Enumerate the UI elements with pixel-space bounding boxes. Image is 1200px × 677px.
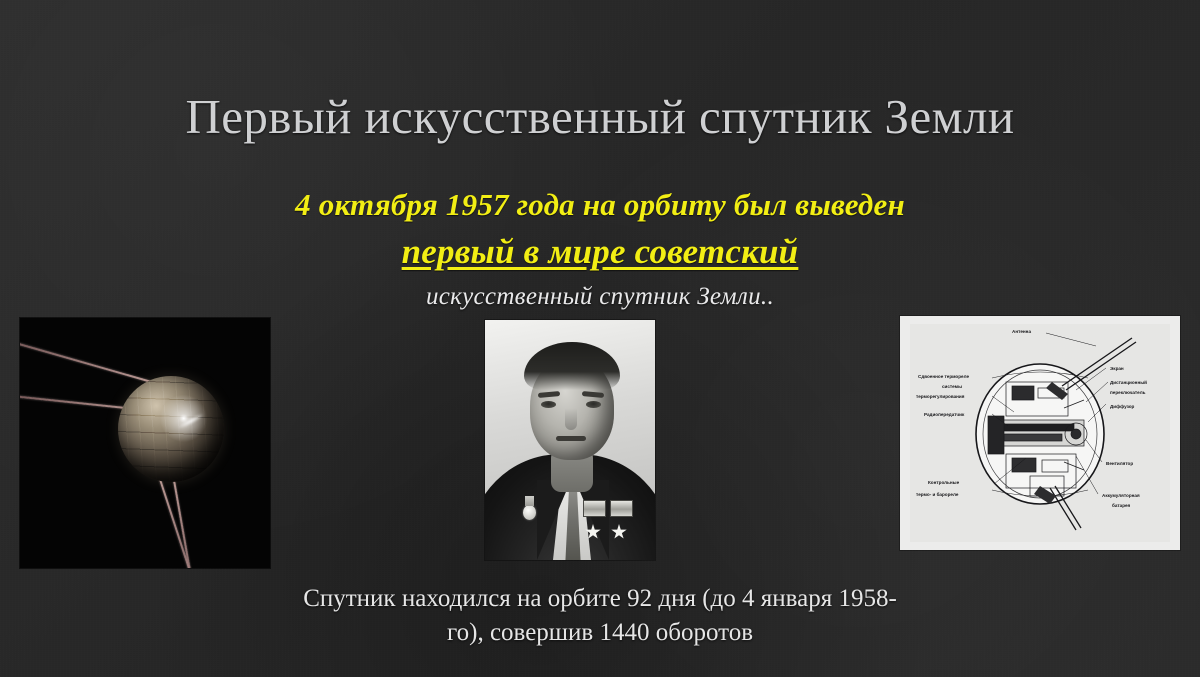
slide-caption: Спутник находился на орбите 92 дня (до 4…	[285, 582, 915, 649]
diagram-svg: Антенна Экран Дистанционный переключател…	[900, 316, 1180, 550]
sputnik-photo	[20, 318, 270, 568]
portrait-medal-icon	[523, 505, 536, 520]
diagram-label-diffuser: Диффузор	[1110, 403, 1135, 409]
diagram-label-remote-switch-1: Дистанционный	[1110, 379, 1147, 385]
sputnik-photo-content	[20, 318, 270, 568]
sputnik-sphere	[118, 376, 224, 482]
diagram-label-remote-switch-2: переключатель	[1110, 390, 1146, 395]
subtitle-line-3: искусственный спутник Земли..	[0, 279, 1200, 315]
diagram-label-control-1: Контрольные	[928, 480, 960, 485]
portrait-lapel-left	[537, 480, 571, 560]
page-title: Первый искусственный спутник Земли	[0, 91, 1200, 142]
medal-ribbon-icon	[610, 500, 633, 517]
diagram-label-control-2: термо- и барореле	[916, 491, 959, 497]
portrait-hair	[524, 342, 620, 390]
subtitle-line-1: 4 октября 1957 года на орбиту был выведе…	[0, 184, 1200, 227]
subtitle-block: 4 октября 1957 года на орбиту был выведе…	[0, 184, 1200, 316]
medal-ribbon-icon	[583, 500, 606, 517]
diagram-label-thermorelay-3: терморегулирования	[916, 394, 965, 399]
diagram-label-thermorelay-2: системы	[942, 384, 962, 389]
diagram-label-antenna: Антенна	[1012, 329, 1031, 334]
sputnik-cutaway-diagram: Антенна Экран Дистанционный переключател…	[900, 316, 1180, 550]
portrait-mouth	[556, 436, 586, 441]
portrait-eye-left	[541, 401, 556, 408]
sphere-seam-lines	[118, 376, 224, 482]
portrait-nose	[565, 408, 577, 430]
korolev-portrait	[485, 320, 655, 560]
diagram-label-thermorelay-1: Сдвоенное термореле	[918, 374, 969, 379]
portrait-hero-stars	[583, 500, 639, 554]
portrait-eye-right	[586, 401, 601, 408]
diagram-label-battery-1: Аккумуляторная	[1102, 493, 1140, 498]
diagram-label-fan: Вентилятор	[1106, 461, 1133, 466]
gold-star-icon	[611, 524, 627, 540]
presentation-slide: Первый искусственный спутник Земли 4 окт…	[0, 0, 1200, 677]
subtitle-line-2-emphasis: первый в мире советский	[0, 227, 1200, 277]
diagram-label-battery-2: батарея	[1112, 502, 1131, 508]
diagram-label-transmitter: Радиопередатчик	[924, 412, 965, 417]
diagram-label-screen: Экран	[1110, 366, 1124, 371]
gold-star-icon	[585, 524, 601, 540]
sputnik-antenna-icon	[20, 338, 162, 386]
